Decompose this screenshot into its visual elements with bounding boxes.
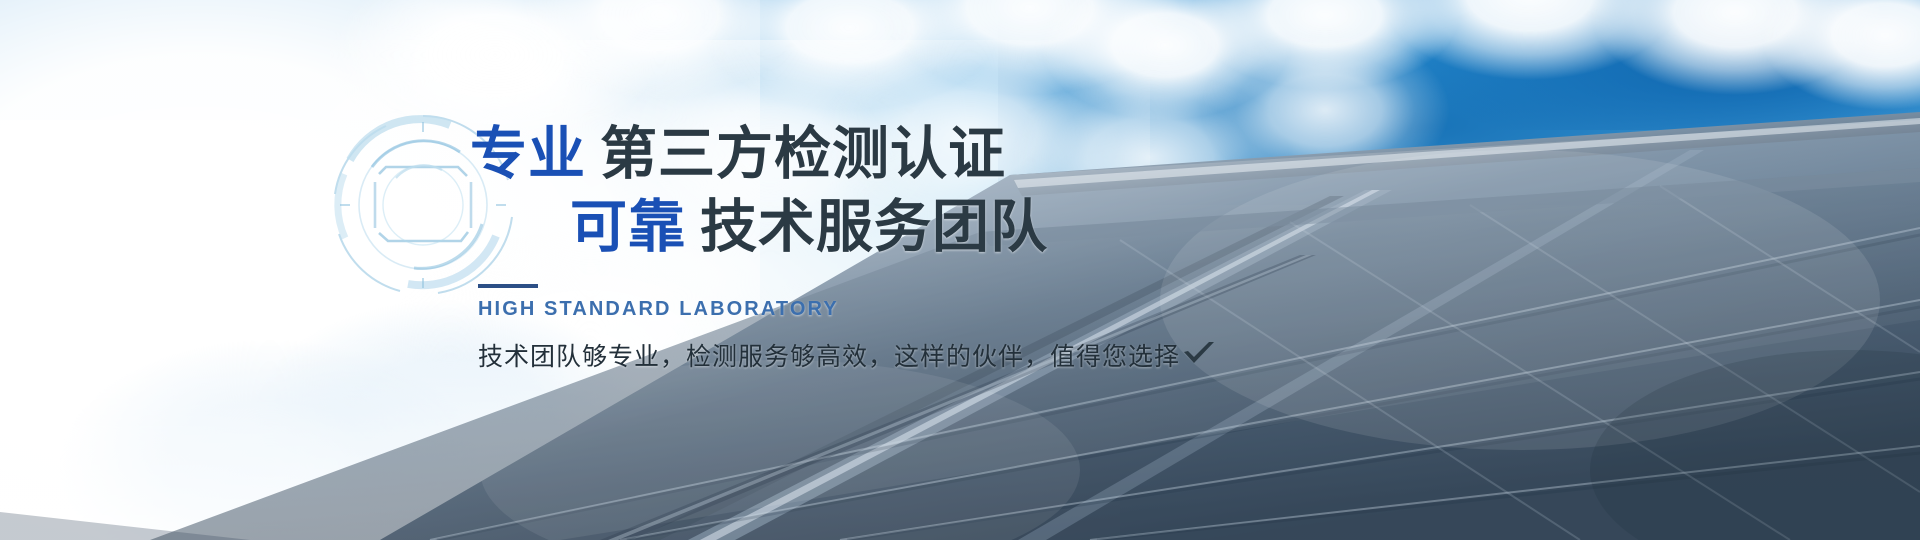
- headline-line-2: 可靠技术服务团队: [470, 199, 1470, 256]
- headline-line-1: 专业第三方检测认证: [470, 126, 1470, 183]
- headline-accent-2: 可靠: [570, 195, 686, 259]
- tagline: 技术团队够专业，检测服务够高效，这样的伙伴，值得您选择: [470, 337, 1470, 374]
- headline-rest-1: 第三方检测认证: [600, 122, 1006, 186]
- headline-accent-1: 专业: [470, 122, 586, 186]
- check-icon: [1182, 341, 1216, 374]
- headline-rest-2: 技术服务团队: [700, 195, 1048, 259]
- english-subtitle: HIGH STANDARD LABORATORY: [470, 298, 1470, 321]
- sky-deep-blue-patch-secondary: [1421, 0, 1920, 130]
- hero-banner: 专业第三方检测认证 可靠技术服务团队 HIGH STANDARD LABORAT…: [0, 0, 1920, 540]
- hero-copy: 专业第三方检测认证 可靠技术服务团队 HIGH STANDARD LABORAT…: [470, 126, 1470, 374]
- divider-rule: [478, 284, 538, 288]
- tagline-text: 技术团队够专业，检测服务够高效，这样的伙伴，值得您选择: [478, 343, 1180, 371]
